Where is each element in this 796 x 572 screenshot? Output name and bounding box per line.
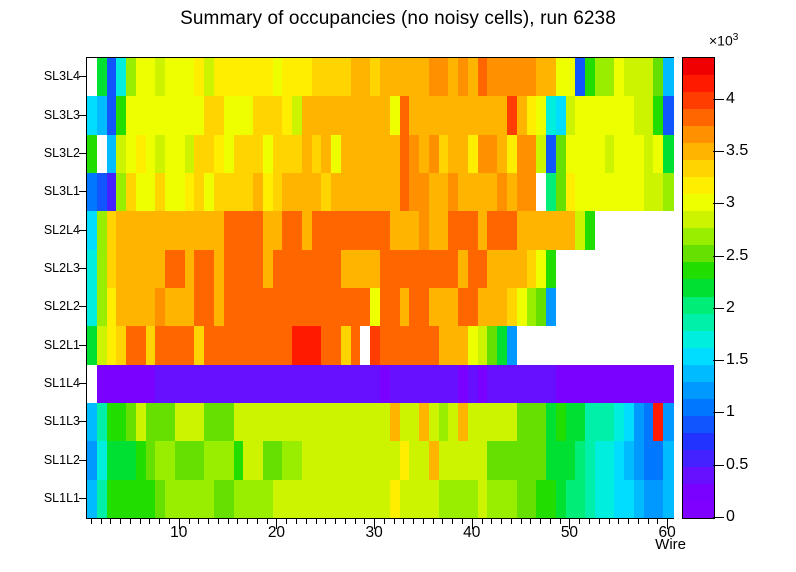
y-axis-tick <box>79 230 86 231</box>
colorbar-tick <box>713 203 724 204</box>
heatmap-plot-area[interactable] <box>86 57 674 519</box>
x-axis-title: Wire <box>0 536 686 553</box>
y-axis-label-sl1l3: SL1L3 <box>16 415 80 427</box>
colorbar-segment <box>683 75 714 93</box>
heatmap-cell <box>663 250 673 288</box>
y-axis-tick <box>79 421 86 422</box>
heatmap-row <box>87 480 673 518</box>
colorbar-segment <box>683 92 714 110</box>
colorbar-segment <box>683 228 714 246</box>
y-axis-label-sl2l1: SL2L1 <box>16 339 80 351</box>
colorbar-ticks <box>713 57 725 517</box>
y-axis-tick <box>79 383 86 384</box>
colorbar-segment <box>683 500 714 518</box>
y-axis-tick <box>79 345 86 346</box>
y-axis-label-sl2l4: SL2L4 <box>16 224 80 236</box>
heatmap-row <box>87 441 673 479</box>
colorbar-segment <box>683 466 714 484</box>
heatmap-cell <box>663 403 673 441</box>
y-axis-label-sl1l1: SL1L1 <box>16 492 80 504</box>
colorbar-tick-label: 1.5 <box>726 352 748 368</box>
colorbar[interactable] <box>682 57 715 519</box>
colorbar-tick-label: 3.5 <box>726 143 748 159</box>
colorbar-tick <box>713 99 724 100</box>
colorbar-exponent-base: ×10 <box>709 33 733 49</box>
y-axis-tick <box>79 153 86 154</box>
colorbar-segment <box>683 296 714 314</box>
heatmap-row <box>87 96 673 134</box>
y-axis-tick <box>79 191 86 192</box>
colorbar-segment <box>683 262 714 280</box>
colorbar-segment <box>683 449 714 467</box>
colorbar-tick <box>713 465 724 466</box>
root-canvas: Summary of occupancies (no noisy cells),… <box>0 0 796 572</box>
heatmap-row <box>87 135 673 173</box>
y-axis-tick <box>79 460 86 461</box>
heatmap-cells <box>87 58 673 518</box>
y-axis-label-sl2l2: SL2L2 <box>16 300 80 312</box>
colorbar-segment <box>683 347 714 365</box>
colorbar-tick <box>713 517 724 518</box>
heatmap-cell <box>663 480 673 518</box>
colorbar-tick-label: 0.5 <box>726 457 748 473</box>
colorbar-tick <box>713 412 724 413</box>
heatmap-row <box>87 58 673 96</box>
y-axis-tick <box>79 76 86 77</box>
colorbar-segment <box>683 109 714 127</box>
heatmap-cell <box>663 365 673 403</box>
colorbar-tick-label: 3 <box>726 195 735 211</box>
y-axis-labels: SL3L4SL3L3SL3L2SL3L1SL2L4SL2L3SL2L2SL2L1… <box>10 57 80 517</box>
y-axis-label-sl3l2: SL3L2 <box>16 147 80 159</box>
colorbar-tick-label: 4 <box>726 91 735 107</box>
y-axis-label-sl1l2: SL1L2 <box>16 454 80 466</box>
heatmap-cell <box>663 96 673 134</box>
colorbar-tick-label: 2.5 <box>726 248 748 264</box>
y-axis-tick <box>79 498 86 499</box>
heatmap-row <box>87 326 673 364</box>
y-axis-label-sl3l3: SL3L3 <box>16 109 80 121</box>
colorbar-segment <box>683 313 714 331</box>
page-title: Summary of occupancies (no noisy cells),… <box>0 8 796 30</box>
colorbar-tick-label: 1 <box>726 404 735 420</box>
colorbar-tick-label: 0 <box>726 509 735 525</box>
heatmap-row <box>87 173 673 211</box>
colorbar-segment <box>683 432 714 450</box>
colorbar-segment <box>683 126 714 144</box>
y-axis-tick <box>79 268 86 269</box>
y-axis-tick <box>79 115 86 116</box>
heatmap-row <box>87 288 673 326</box>
colorbar-segment <box>683 279 714 297</box>
colorbar-tick <box>713 360 724 361</box>
heatmap-cell <box>663 288 673 326</box>
heatmap-cell <box>663 441 673 479</box>
y-axis-tick <box>79 306 86 307</box>
colorbar-exponent: ×103 <box>709 32 738 49</box>
colorbar-tick-labels: 00.511.522.533.54 <box>726 57 792 517</box>
y-axis-label-sl3l1: SL3L1 <box>16 185 80 197</box>
colorbar-segment <box>683 58 714 76</box>
colorbar-segment <box>683 194 714 212</box>
colorbar-exponent-power: 3 <box>733 32 739 43</box>
y-axis-label-sl3l4: SL3L4 <box>16 70 80 82</box>
colorbar-segment <box>683 177 714 195</box>
heatmap-cell <box>663 173 673 211</box>
colorbar-tick <box>713 151 724 152</box>
colorbar-segment <box>683 245 714 263</box>
y-axis-label-sl1l4: SL1L4 <box>16 377 80 389</box>
heatmap-row <box>87 365 673 403</box>
heatmap-row <box>87 403 673 441</box>
colorbar-segment <box>683 364 714 382</box>
colorbar-segment <box>683 143 714 161</box>
heatmap-row <box>87 211 673 249</box>
colorbar-tick <box>713 308 724 309</box>
colorbar-tick <box>713 256 724 257</box>
colorbar-tick-label: 2 <box>726 300 735 316</box>
heatmap-row <box>87 250 673 288</box>
colorbar-segment <box>683 415 714 433</box>
heatmap-cell <box>663 211 673 249</box>
colorbar-segment <box>683 330 714 348</box>
colorbar-segment <box>683 160 714 178</box>
colorbar-segment <box>683 381 714 399</box>
y-axis-label-sl2l3: SL2L3 <box>16 262 80 274</box>
colorbar-segment <box>683 398 714 416</box>
colorbar-segment <box>683 211 714 229</box>
heatmap-cell <box>663 135 673 173</box>
colorbar-segment <box>683 483 714 501</box>
heatmap-cell <box>663 326 673 364</box>
heatmap-cell <box>663 58 673 96</box>
